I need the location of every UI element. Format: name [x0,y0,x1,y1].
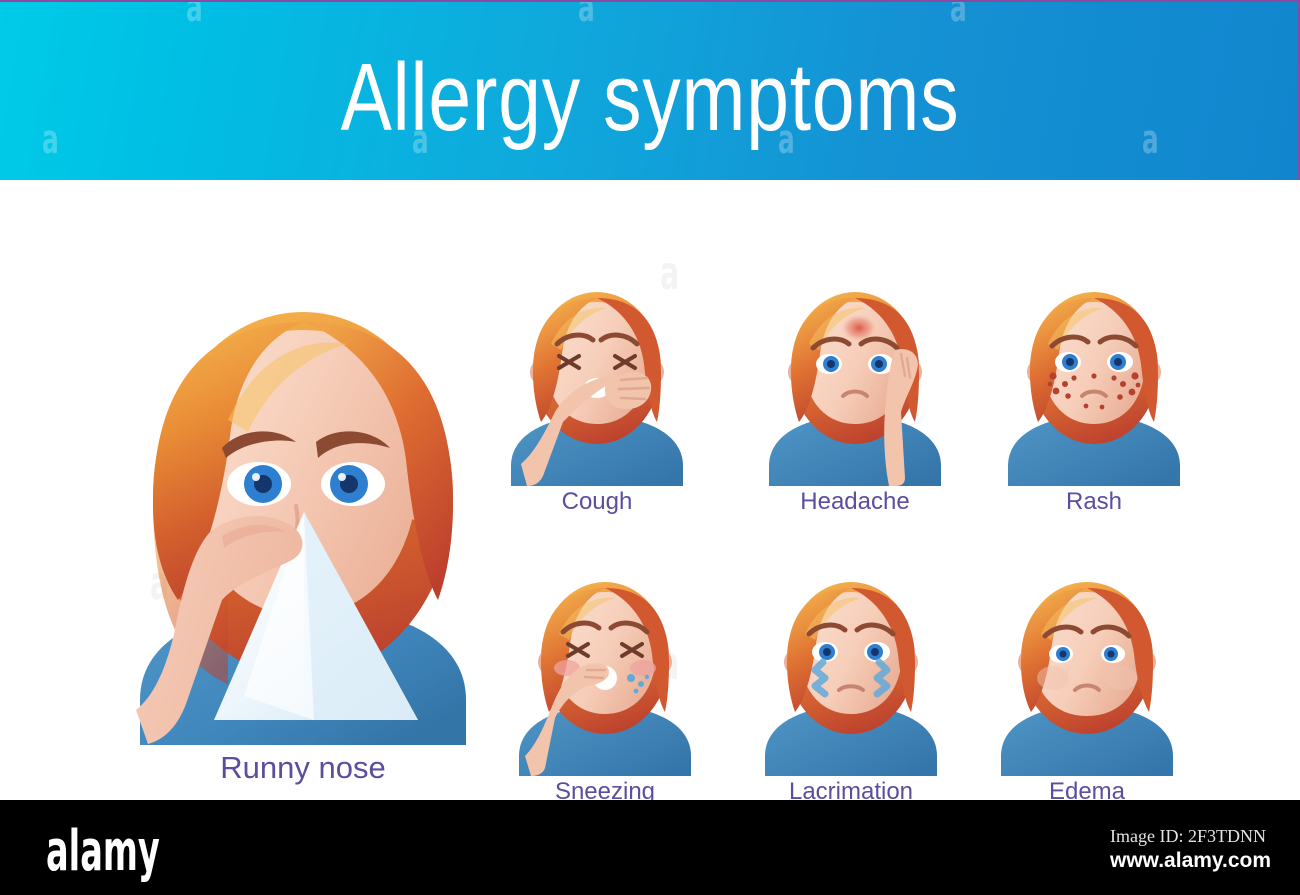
cheek-swelling-right-shape [1105,666,1137,690]
footer-image-id: Image ID: 2F3TDNN [1110,827,1266,845]
eye-right-icon [1101,645,1125,663]
alamy-footer-bar [0,800,1300,895]
lacrimation-illustration [751,578,951,776]
symptom-card-rash[interactable]: Rash [994,288,1194,486]
blush-right-shape [630,660,656,676]
symptom-label-rash: Rash [994,488,1194,516]
symptom-label-sneezing: Sneezing [505,778,705,800]
symptom-label-lacrimation: Lacrimation [751,778,951,800]
symptom-label-cough: Cough [497,488,697,516]
eye-right-icon [864,642,890,662]
rash-illustration [994,288,1194,486]
symptom-label-runny-nose: Runny nose [118,750,488,786]
eye-right-icon [1107,352,1133,372]
symptom-label-headache: Headache [755,488,955,516]
symptom-label-edema: Edema [987,778,1187,800]
infographic-page: a a a a a a a a Allergy symptoms a a a [0,0,1300,895]
headache-illustration [755,288,955,486]
eye-left-icon [1049,645,1073,663]
cough-illustration [497,288,697,486]
watermark-a-icon: a [950,0,967,28]
watermark-a-icon: a [42,120,59,160]
cheek-swelling-left-shape [1037,666,1069,690]
runny-nose-illustration [118,300,488,745]
footer-website: www.alamy.com [1110,850,1271,871]
page-title: Allergy symptoms [130,50,1170,146]
symptom-card-lacrimation[interactable]: Lacrimation [751,578,951,776]
symptom-card-cough[interactable]: Cough [497,288,697,486]
watermark-a-icon: a [186,0,203,28]
eye-right-icon [321,462,385,506]
watermark-a-icon: a [578,0,595,28]
header-banner: a a a a a a a a Allergy symptoms [0,0,1300,180]
sneezing-illustration [505,578,705,776]
alamy-logo: alamy [46,824,160,880]
edema-illustration [987,578,1187,776]
symptoms-content: a a a [0,180,1300,800]
eye-left-icon [1055,352,1081,372]
symptom-card-runny-nose[interactable]: Runny nose [118,300,488,745]
symptom-card-headache[interactable]: Headache [755,288,955,486]
eye-left-icon [812,642,838,662]
symptom-card-edema[interactable]: Edema [987,578,1187,776]
symptom-card-sneezing[interactable]: Sneezing [505,578,705,776]
eye-left-icon [816,354,842,374]
eye-left-icon [227,462,291,506]
